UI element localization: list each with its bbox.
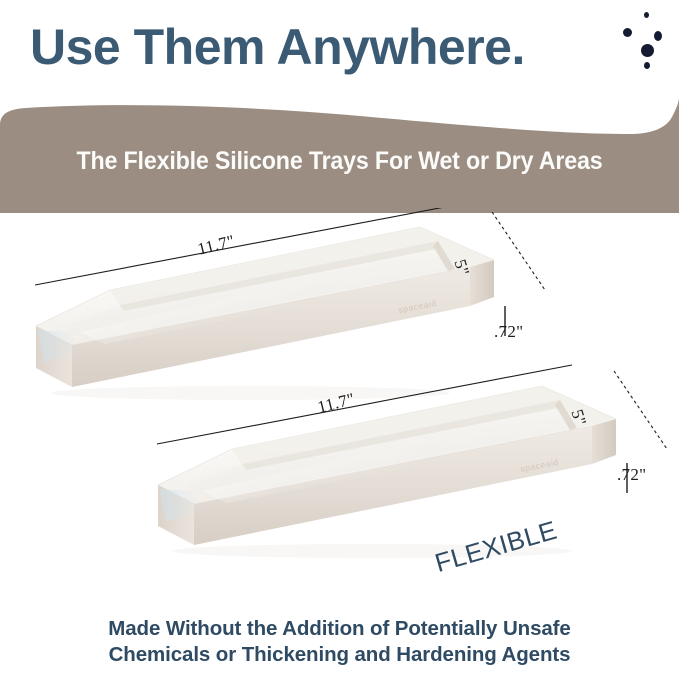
dot-icon xyxy=(644,12,649,18)
tray-upper: spaceaid xyxy=(36,227,494,400)
footer-claim: Made Without the Addition of Potentially… xyxy=(0,616,679,669)
footer-claim-line-1: Made Without the Addition of Potentially… xyxy=(0,616,679,643)
tray-lower-thickness-label: .72" xyxy=(617,465,646,485)
page-headline: Use Them Anywhere. xyxy=(30,22,525,72)
tray-upper-thickness-label: .72" xyxy=(494,322,523,342)
footer-claim-line-2: Chemicals or Thickening and Hardening Ag… xyxy=(0,642,679,669)
dot-icon xyxy=(641,44,654,57)
product-infographic: Use Them Anywhere. The Flexible Silicone… xyxy=(0,0,679,679)
banner-subtitle: The Flexible Silicone Trays For Wet or D… xyxy=(24,147,655,176)
dot-icon xyxy=(644,62,650,69)
dot-icon xyxy=(623,28,632,37)
dot-icon xyxy=(654,31,662,41)
decorative-dots-icon xyxy=(618,8,676,70)
tray-upper-width-line xyxy=(492,212,545,290)
tray-lower-width-line xyxy=(614,371,667,449)
